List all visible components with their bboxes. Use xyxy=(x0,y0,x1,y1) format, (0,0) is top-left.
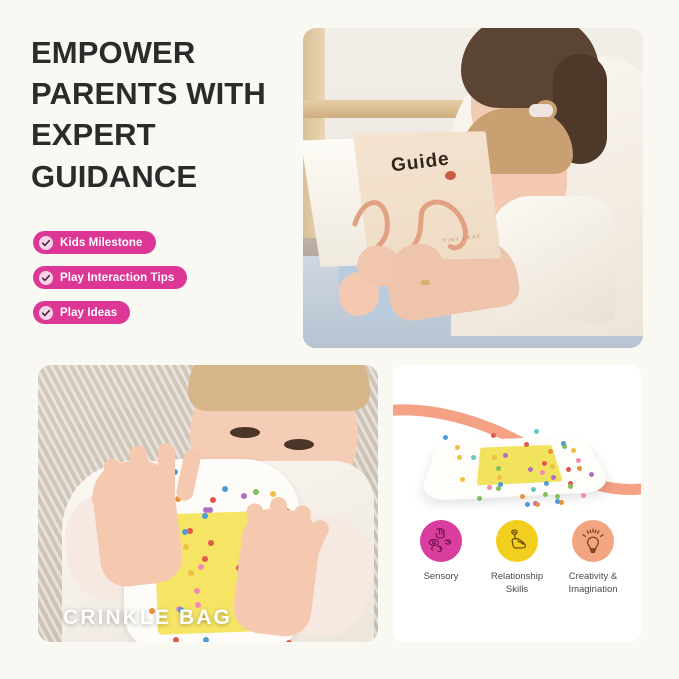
product-infographic: EMPOWER PARENTS WITH EXPERT GUIDANCE Kid… xyxy=(0,0,679,679)
polka-dot xyxy=(496,466,501,471)
badge-label: Play Interaction Tips xyxy=(60,272,174,284)
mother-and-baby-reading-photo: Guide TINY LEAF xyxy=(303,28,643,348)
badge-label: Kids Milestone xyxy=(60,237,143,249)
feature-sensory[interactable]: Sensory xyxy=(405,520,477,596)
feature-label: Relationship Skills xyxy=(481,571,553,596)
polka-dot xyxy=(548,449,553,454)
polka-dot xyxy=(531,487,536,492)
feature-label: Sensory xyxy=(424,571,459,584)
wedding-ring xyxy=(421,280,430,285)
lightbulb-icon xyxy=(572,520,614,562)
polka-dot xyxy=(561,441,566,446)
polka-dot xyxy=(566,467,571,472)
feature-label: Creativity & Imagination xyxy=(557,571,629,596)
baby-hair xyxy=(188,365,370,411)
feature-relationship-skills[interactable]: Relationship Skills xyxy=(481,520,553,596)
shelf-plank-upper xyxy=(303,100,478,118)
polka-dot xyxy=(534,429,539,434)
polka-dot xyxy=(443,435,448,440)
hand-gesture-icon xyxy=(496,520,538,562)
finger xyxy=(158,443,175,501)
polka-dot xyxy=(555,499,560,504)
polka-dot xyxy=(202,513,208,519)
polka-dot xyxy=(492,455,497,460)
polka-dot xyxy=(543,492,548,497)
sensory-icon xyxy=(420,520,462,562)
badge-play-interaction-tips[interactable]: Play Interaction Tips xyxy=(33,266,187,289)
badge-play-ideas[interactable]: Play Ideas xyxy=(33,301,130,324)
product-bag-group xyxy=(431,409,603,515)
feature-badge-list: Kids Milestone Play Interaction Tips Pla… xyxy=(33,231,187,336)
polka-dot xyxy=(210,497,216,503)
check-circle-icon xyxy=(39,271,53,285)
polka-dot xyxy=(589,472,594,477)
polka-dot xyxy=(497,475,502,480)
feature-creativity-imagination[interactable]: Creativity & Imagination xyxy=(557,520,629,596)
polka-dot xyxy=(577,466,582,471)
polka-dot xyxy=(491,433,496,438)
polka-dot xyxy=(477,496,482,501)
polka-dot xyxy=(498,482,503,487)
badge-kids-milestone[interactable]: Kids Milestone xyxy=(33,231,156,254)
polka-dot xyxy=(525,502,530,507)
feature-icon-list: Sensory Relationship Skills xyxy=(393,520,641,596)
baby-hair-bow xyxy=(529,104,553,117)
baby-eye-left xyxy=(230,427,260,438)
polka-dot xyxy=(576,458,581,463)
polka-dot xyxy=(571,448,576,453)
polka-dot xyxy=(581,493,586,498)
baby-eye-right xyxy=(284,439,314,450)
polka-dot xyxy=(203,637,209,642)
polka-dot xyxy=(503,453,508,458)
page-title: EMPOWER PARENTS WITH EXPERT GUIDANCE xyxy=(31,32,299,197)
finger xyxy=(270,497,287,555)
polka-dot xyxy=(173,637,179,642)
badge-label: Play Ideas xyxy=(60,307,117,319)
polka-dot xyxy=(535,502,540,507)
polka-dot xyxy=(286,640,292,642)
product-name-overlay: CRINKLE BAG xyxy=(63,606,232,630)
polka-dot xyxy=(520,494,525,499)
check-circle-icon xyxy=(39,306,53,320)
polka-dot xyxy=(222,486,228,492)
polka-dot xyxy=(183,544,189,550)
polka-dot xyxy=(253,489,259,495)
polka-dot xyxy=(208,540,214,546)
check-circle-icon xyxy=(39,236,53,250)
polka-dot xyxy=(457,455,462,460)
polka-dot xyxy=(455,445,460,450)
baby-holding-crinkle-bag-photo: CRINKLE BAG xyxy=(38,365,378,642)
crinkle-bag-product-card: Sensory Relationship Skills xyxy=(393,365,641,642)
polka-dot xyxy=(270,491,276,497)
